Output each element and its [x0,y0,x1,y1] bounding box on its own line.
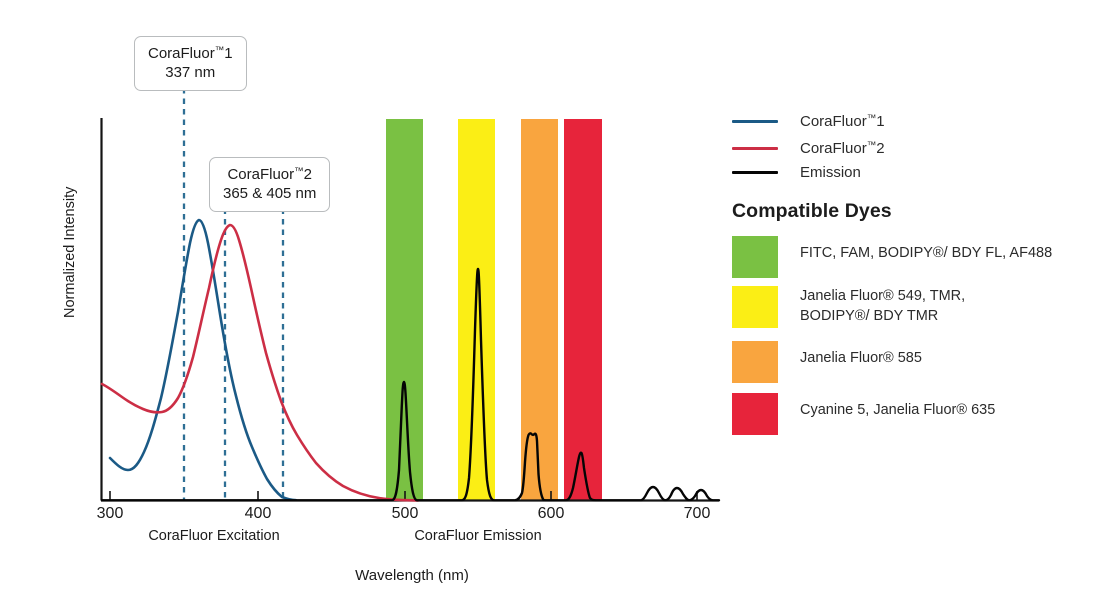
dye-swatch-yellow [732,286,778,328]
chart-page: 300 400 500 600 700 CoraFluor Excitation… [0,0,1110,612]
trademark-icon: ™ [294,166,304,177]
curve-corafluor2 [102,225,418,500]
region-label-emission: CoraFluor Emission [414,528,541,544]
spectra-plot: 300 400 500 600 700 CoraFluor Excitation… [0,0,740,612]
legend-label-emission: Emission [800,164,861,181]
excitation-markers [184,88,283,500]
legend-label-corafluor2: CoraFluor™2 [800,140,885,157]
x-tick-500: 500 [392,505,419,523]
callout-corafluor2: CoraFluor™2 365 & 405 nm [209,157,330,212]
callout-cf2-name: CoraFluor [227,166,294,183]
dye-swatch-red [732,393,778,435]
callout-corafluor2-line2: 365 & 405 nm [223,184,316,203]
callout-corafluor1: CoraFluor™1 337 nm [134,36,247,91]
dye-swatch-orange [732,341,778,383]
y-axis-title: Normalized Intensity [62,187,78,318]
legend-item-corafluor2: CoraFluor™2 [732,140,885,157]
legend-line-swatch-corafluor1 [732,120,778,123]
legend-line-swatch-corafluor2 [732,147,778,150]
callout-cf1-index: 1 [224,45,232,62]
x-tick-700: 700 [684,505,711,523]
dye-label-orange: Janelia Fluor® 585 [800,341,922,369]
dye-item-orange: Janelia Fluor® 585 [732,341,922,383]
trademark-icon: ™ [867,113,877,124]
x-tick-400: 400 [245,505,272,523]
callout-corafluor1-line2: 337 nm [148,63,233,82]
callout-cf1-name: CoraFluor [148,45,215,62]
dye-label-green: FITC, FAM, BODIPY®/ BDY FL, AF488 [800,236,1052,264]
dye-item-yellow: Janelia Fluor® 549, TMR,BODIPY®/ BDY TMR [732,286,965,328]
emission-bands [386,119,602,500]
red-band [564,119,602,500]
legend-item-corafluor1: CoraFluor™1 [732,113,885,130]
region-label-excitation: CoraFluor Excitation [148,528,279,544]
x-axis-title: Wavelength (nm) [355,567,469,584]
dye-label-red: Cyanine 5, Janelia Fluor® 635 [800,393,995,421]
legend-label-corafluor1: CoraFluor™1 [800,113,885,130]
x-tick-300: 300 [97,505,124,523]
callout-corafluor2-line1: CoraFluor™2 [223,165,316,184]
legend-line-swatch-emission [732,171,778,174]
dye-item-red: Cyanine 5, Janelia Fluor® 635 [732,393,995,435]
trademark-icon: ™ [867,140,877,151]
callout-cf2-index: 2 [304,166,312,183]
trademark-icon: ™ [215,45,225,56]
legend-item-emission: Emission [732,164,861,181]
dye-swatch-green [732,236,778,278]
dye-label-yellow: Janelia Fluor® 549, TMR,BODIPY®/ BDY TMR [800,286,965,326]
green-band [386,119,423,500]
compatible-dyes-heading: Compatible Dyes [732,200,892,223]
dye-item-green: FITC, FAM, BODIPY®/ BDY FL, AF488 [732,236,1052,278]
callout-corafluor1-line1: CoraFluor™1 [148,44,233,63]
legend-panel: CoraFluor™1 CoraFluor™2 Emission Compati… [728,0,1110,612]
x-tick-600: 600 [538,505,565,523]
